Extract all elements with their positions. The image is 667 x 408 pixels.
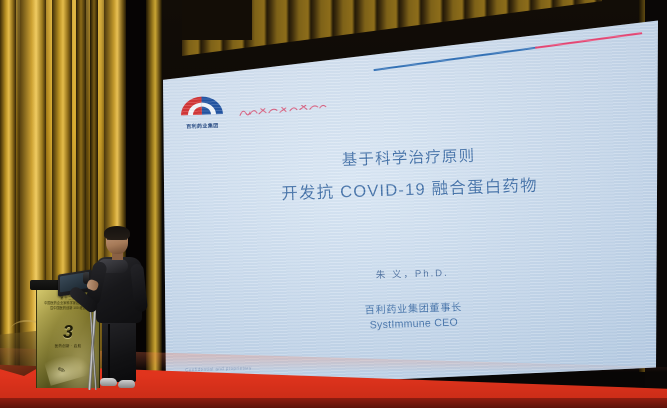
accent-rule-blue — [374, 47, 538, 72]
arch-bridge-icon — [178, 94, 225, 125]
accent-rule — [374, 33, 640, 72]
stage-front-face — [0, 398, 667, 408]
brand-logo-block: 百利药业集团 — [178, 94, 225, 130]
calligraphy-mark — [237, 100, 329, 119]
slide-logo-lockup: 百利药业集团 — [178, 91, 329, 131]
speaker-shoe-right — [118, 380, 135, 388]
speaker-hand — [86, 278, 100, 291]
speaker-hair — [104, 226, 130, 240]
slide-title: 基于科学治疗原则 开发抗 COVID-19 融合蛋白药物 — [158, 136, 660, 214]
gold-column-1 — [0, 0, 16, 372]
presenter-block: 朱 义，Ph.D. 百利药业集团董事长 SystImmune CEO — [162, 258, 664, 338]
slide-content: 百利药业集团 — [154, 8, 666, 400]
accent-rule-pink — [535, 32, 642, 49]
presenter-name: 朱 义，Ph.D. — [162, 258, 662, 288]
slide-footer-note: Confidential and proprietary — [185, 365, 252, 372]
speaker-shoe-left — [100, 378, 117, 386]
conference-photo-scene: 百利药业集团 — [0, 0, 667, 408]
projection-screen: 百利药业集团 — [160, 16, 660, 392]
speaker-figure — [92, 228, 148, 390]
speaker-leg-gap — [108, 324, 110, 378]
